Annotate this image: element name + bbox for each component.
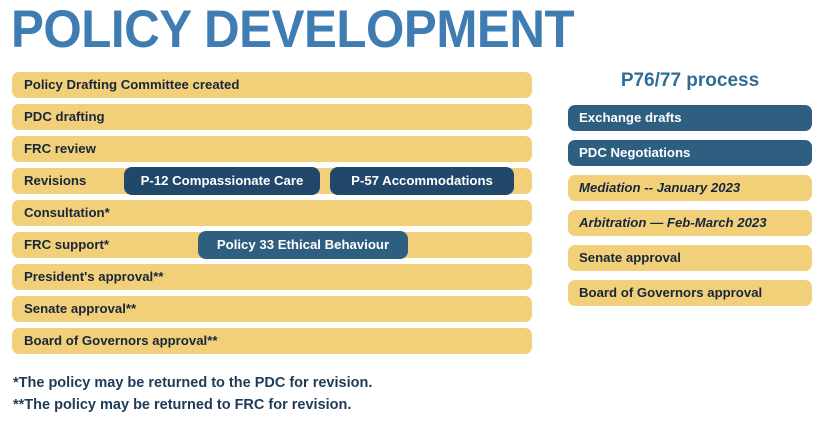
policy-badge[interactable]: P-12 Compassionate Care xyxy=(124,167,320,195)
policy-stage-label: FRC review xyxy=(24,136,96,162)
policy-stage-row[interactable]: Consultation* xyxy=(12,200,532,226)
policy-stage-row[interactable]: FRC review xyxy=(12,136,532,162)
policy-stage-row[interactable]: PDC drafting xyxy=(12,104,532,130)
policy-stage-label: President's approval** xyxy=(24,264,163,290)
process-stage-label: PDC Negotiations xyxy=(579,140,690,166)
process-stage-label: Board of Governors approval xyxy=(579,280,762,306)
process-stage-label: Arbitration — Feb-March 2023 xyxy=(579,210,767,236)
policy-badge[interactable]: P-57 Accommodations xyxy=(330,167,514,195)
policy-stage-label: PDC drafting xyxy=(24,104,105,130)
p7677-process-panel: P76/77 process Exchange draftsPDC Negoti… xyxy=(568,68,812,315)
process-stage-label: Exchange drafts xyxy=(579,105,682,131)
process-stage-row[interactable]: Senate approval xyxy=(568,245,812,271)
page-title: POLICY DEVELOPMENT xyxy=(11,2,569,58)
process-stage-row[interactable]: Arbitration — Feb-March 2023 xyxy=(568,210,812,236)
policy-stage-row[interactable]: Senate approval** xyxy=(12,296,532,322)
process-stage-label: Mediation -- January 2023 xyxy=(579,175,740,201)
policy-stage-row[interactable]: Board of Governors approval** xyxy=(12,328,532,354)
policy-badge[interactable]: Policy 33 Ethical Behaviour xyxy=(198,231,408,259)
policy-development-stage-list: Policy Drafting Committee createdPDC dra… xyxy=(12,72,532,360)
policy-stage-row[interactable]: FRC support*Policy 33 Ethical Behaviour xyxy=(12,232,532,258)
policy-stage-row[interactable]: President's approval** xyxy=(12,264,532,290)
policy-stage-label: Board of Governors approval** xyxy=(24,328,217,354)
policy-stage-label: Senate approval** xyxy=(24,296,136,322)
slide-canvas: POLICY DEVELOPMENT Policy Drafting Commi… xyxy=(0,0,836,432)
policy-stage-label: Policy Drafting Committee created xyxy=(24,72,239,98)
policy-stage-label: Revisions xyxy=(24,168,86,194)
p7677-process-heading: P76/77 process xyxy=(568,68,812,94)
footnote-block: *The policy may be returned to the PDC f… xyxy=(13,372,533,416)
process-stage-row[interactable]: PDC Negotiations xyxy=(568,140,812,166)
process-stage-row[interactable]: Board of Governors approval xyxy=(568,280,812,306)
process-stage-label: Senate approval xyxy=(579,245,681,271)
process-stage-row[interactable]: Exchange drafts xyxy=(568,105,812,131)
p7677-process-stage-list: Exchange draftsPDC NegotiationsMediation… xyxy=(568,105,812,306)
process-stage-row[interactable]: Mediation -- January 2023 xyxy=(568,175,812,201)
policy-stage-label: Consultation* xyxy=(24,200,110,226)
footnote-line: *The policy may be returned to the PDC f… xyxy=(13,372,533,394)
footnote-line: **The policy may be returned to FRC for … xyxy=(13,394,533,416)
policy-stage-label: FRC support* xyxy=(24,232,109,258)
policy-stage-row[interactable]: RevisionsP-12 Compassionate CareP-57 Acc… xyxy=(12,168,532,194)
policy-stage-row[interactable]: Policy Drafting Committee created xyxy=(12,72,532,98)
